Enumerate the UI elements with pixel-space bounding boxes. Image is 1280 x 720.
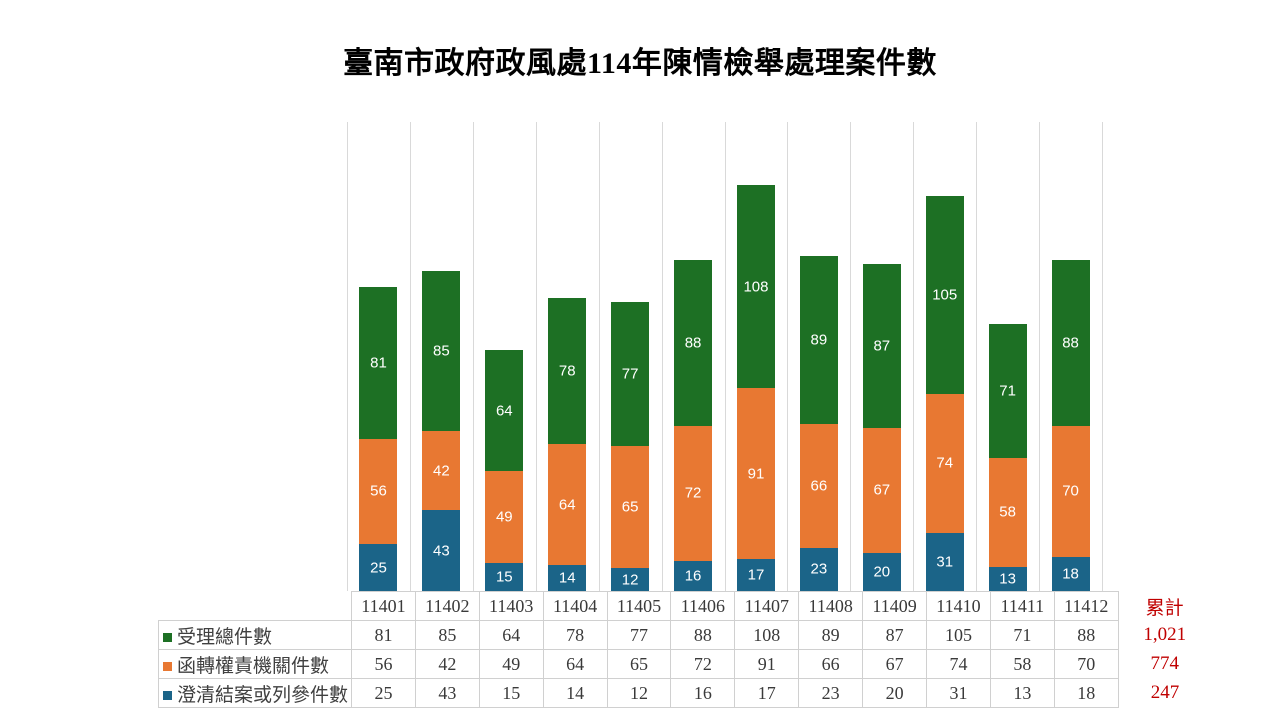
bar-value-label: 15: [485, 569, 523, 584]
legend-swatch-icon: [163, 691, 172, 700]
bar-column: 887018: [1039, 122, 1102, 591]
bar-value-label: 14: [548, 570, 586, 585]
bar-value-label: 85: [422, 344, 460, 359]
table-column-header: 11407: [735, 592, 799, 621]
bar-column: 815625: [347, 122, 410, 591]
bar-segment[interactable]: 74: [926, 394, 964, 533]
bar-segment[interactable]: 17: [737, 559, 775, 591]
bar-value-label: 72: [674, 486, 712, 501]
page-title: 臺南市政府政風處114年陳情檢舉處理案件數: [0, 38, 1280, 82]
series-label-cell: 澄清結案或列參件數: [159, 679, 352, 708]
bar-segment[interactable]: 70: [1052, 426, 1090, 558]
table-cell: 81: [352, 621, 416, 650]
bar-segment[interactable]: 23: [800, 548, 838, 591]
table-cell: 49: [479, 650, 543, 679]
bar-column: 715813: [976, 122, 1039, 591]
table-cell: 13: [990, 679, 1054, 708]
bar-value-label: 25: [359, 560, 397, 575]
bar-value-label: 71: [989, 383, 1027, 398]
bar-value-label: 65: [611, 500, 649, 515]
table-column-header: 11409: [863, 592, 927, 621]
stacked-bar[interactable]: 715813: [989, 324, 1027, 591]
chart-plot-area: 8156258542436449157864147765128872161089…: [347, 122, 1102, 591]
bar-value-label: 77: [611, 366, 649, 381]
table-cell: 105: [927, 621, 991, 650]
bar-value-label: 87: [863, 338, 901, 353]
bar-segment[interactable]: 42: [422, 431, 460, 510]
table-cell: 43: [415, 679, 479, 708]
table-column-header: 11410: [927, 592, 991, 621]
bar-segment[interactable]: 56: [359, 439, 397, 544]
bar-column: 644915: [473, 122, 536, 591]
bar-value-label: 66: [800, 478, 838, 493]
stacked-bar[interactable]: 876720: [863, 264, 901, 591]
table-cell: 65: [607, 650, 671, 679]
bar-segment[interactable]: 12: [611, 568, 649, 591]
series-label-cell: 函轉權責機關件數: [159, 650, 352, 679]
bar-value-label: 74: [926, 456, 964, 471]
bar-segment[interactable]: 18: [1052, 557, 1090, 591]
bar-segment[interactable]: 81: [359, 287, 397, 439]
bar-value-label: 20: [863, 565, 901, 580]
bar-value-label: 43: [422, 543, 460, 558]
data-table: 1140111402114031140411405114061140711408…: [158, 591, 1206, 708]
bar-value-label: 67: [863, 483, 901, 498]
bar-value-label: 17: [737, 568, 775, 583]
bar-value-label: 56: [359, 484, 397, 499]
bar-value-label: 49: [485, 509, 523, 524]
table-cell: 88: [671, 621, 735, 650]
bar-value-label: 91: [737, 466, 775, 481]
table-cell: 12: [607, 679, 671, 708]
table-cell: 78: [543, 621, 607, 650]
bar-value-label: 81: [359, 355, 397, 370]
bar-segment[interactable]: 65: [611, 446, 649, 568]
table-cell: 85: [415, 621, 479, 650]
bar-segment[interactable]: 88: [1052, 260, 1090, 425]
chart-gridline: [1102, 122, 1103, 591]
legend-swatch-icon: [163, 633, 172, 642]
bar-value-label: 12: [611, 572, 649, 587]
bar-value-label: 64: [548, 497, 586, 512]
bar-column: 786414: [536, 122, 599, 591]
table-cell: 16: [671, 679, 735, 708]
table-cell: 14: [543, 679, 607, 708]
stacked-bar[interactable]: 1057431: [926, 196, 964, 591]
table-column-header: 11403: [479, 592, 543, 621]
bar-segment[interactable]: 20: [863, 553, 901, 591]
bar-value-label: 105: [926, 287, 964, 302]
bar-segment[interactable]: 58: [989, 458, 1027, 567]
table-column-header: 11406: [671, 592, 735, 621]
series-label-cell: 受理總件數: [159, 621, 352, 650]
bar-segment[interactable]: 31: [926, 533, 964, 591]
table-column-header: 11404: [543, 592, 607, 621]
table-cell: 91: [735, 650, 799, 679]
table-cell: 64: [543, 650, 607, 679]
bar-segment[interactable]: 108: [737, 185, 775, 388]
bar-value-label: 31: [926, 554, 964, 569]
bar-value-label: 16: [674, 568, 712, 583]
bar-segment[interactable]: 88: [674, 260, 712, 425]
stacked-bar[interactable]: 644915: [485, 350, 523, 591]
legend-swatch-icon: [163, 662, 172, 671]
bar-value-label: 64: [485, 403, 523, 418]
table-column-header: 11408: [799, 592, 863, 621]
series-name: 受理總件數: [177, 627, 272, 648]
table-cell: 66: [799, 650, 863, 679]
bar-value-label: 18: [1052, 567, 1090, 582]
table-header-row: 1140111402114031140411405114061140711408…: [159, 592, 1206, 621]
bar-value-label: 13: [989, 571, 1027, 586]
table-total-cell: 774: [1118, 650, 1205, 679]
table-cell: 89: [799, 621, 863, 650]
stacked-bar[interactable]: 887216: [674, 260, 712, 591]
table-cell: 15: [479, 679, 543, 708]
table-total-cell: 1,021: [1118, 621, 1205, 650]
table-cell: 71: [990, 621, 1054, 650]
series-name: 澄清結案或列參件數: [177, 685, 348, 706]
table-cell: 67: [863, 650, 927, 679]
table-cell: 72: [671, 650, 735, 679]
table-cell: 25: [352, 679, 416, 708]
bar-segment[interactable]: 67: [863, 428, 901, 554]
table-cell: 31: [927, 679, 991, 708]
table-cell: 58: [990, 650, 1054, 679]
bar-value-label: 89: [800, 333, 838, 348]
bar-segment[interactable]: 66: [800, 424, 838, 548]
table-cell: 108: [735, 621, 799, 650]
bar-segment[interactable]: 16: [674, 561, 712, 591]
bar-column: 876720: [850, 122, 913, 591]
stacked-bar[interactable]: 815625: [359, 287, 397, 591]
bar-value-label: 23: [800, 562, 838, 577]
bar-segment[interactable]: 64: [485, 350, 523, 470]
table-cell: 74: [927, 650, 991, 679]
table-cell: 23: [799, 679, 863, 708]
table-column-header: 11411: [990, 592, 1054, 621]
stacked-bar[interactable]: 887018: [1052, 260, 1090, 591]
bar-column: 896623: [787, 122, 850, 591]
table-cell: 20: [863, 679, 927, 708]
table-row: 函轉權責機關件數564249646572916667745870774: [159, 650, 1206, 679]
bar-segment[interactable]: 105: [926, 196, 964, 393]
stacked-bar[interactable]: 896623: [800, 256, 838, 591]
bar-column: 887216: [662, 122, 725, 591]
table-cell: 64: [479, 621, 543, 650]
table-row: 澄清結案或列參件數254315141216172320311318247: [159, 679, 1206, 708]
bar-value-label: 108: [737, 279, 775, 294]
table-corner-cell: [159, 592, 352, 621]
stacked-bar[interactable]: 786414: [548, 298, 586, 591]
table-total-column-header: 累計: [1118, 592, 1205, 621]
bar-segment[interactable]: 64: [548, 444, 586, 564]
bar-value-label: 58: [989, 505, 1027, 520]
bar-segment[interactable]: 85: [422, 271, 460, 431]
stacked-bar[interactable]: 776512: [611, 302, 649, 591]
table-cell: 70: [1054, 650, 1118, 679]
table-column-header: 11401: [352, 592, 416, 621]
bar-value-label: 88: [1052, 335, 1090, 350]
bar-value-label: 88: [674, 335, 712, 350]
bar-segment[interactable]: 78: [548, 298, 586, 445]
table-cell: 88: [1054, 621, 1118, 650]
stacked-bar[interactable]: 854243: [422, 271, 460, 591]
bar-segment[interactable]: 25: [359, 544, 397, 591]
table-cell: 87: [863, 621, 927, 650]
bar-segment[interactable]: 87: [863, 264, 901, 428]
bar-column: 1089117: [725, 122, 788, 591]
table-column-header: 11402: [415, 592, 479, 621]
bar-value-label: 42: [422, 463, 460, 478]
table-cell: 17: [735, 679, 799, 708]
bar-column: 854243: [410, 122, 473, 591]
table-cell: 56: [352, 650, 416, 679]
table-cell: 18: [1054, 679, 1118, 708]
stacked-bar[interactable]: 1089117: [737, 185, 775, 591]
bar-segment[interactable]: 71: [989, 324, 1027, 457]
bar-segment[interactable]: 89: [800, 256, 838, 423]
bar-value-label: 70: [1052, 484, 1090, 499]
table-column-header: 11412: [1054, 592, 1118, 621]
bar-segment[interactable]: 91: [737, 388, 775, 559]
bar-column: 776512: [599, 122, 662, 591]
table-cell: 42: [415, 650, 479, 679]
table-row: 受理總件數818564787788108898710571881,021: [159, 621, 1206, 650]
table-column-header: 11405: [607, 592, 671, 621]
bar-segment[interactable]: 49: [485, 471, 523, 563]
bar-segment[interactable]: 14: [548, 565, 586, 591]
bar-segment[interactable]: 72: [674, 426, 712, 561]
bar-segment[interactable]: 77: [611, 302, 649, 447]
table-cell: 77: [607, 621, 671, 650]
bar-value-label: 78: [548, 364, 586, 379]
table-total-cell: 247: [1118, 679, 1205, 708]
bar-segment[interactable]: 13: [989, 567, 1027, 591]
bar-segment[interactable]: 43: [422, 510, 460, 591]
bar-column: 1057431: [913, 122, 976, 591]
bar-segment[interactable]: 15: [485, 563, 523, 591]
series-name: 函轉權責機關件數: [177, 656, 329, 677]
